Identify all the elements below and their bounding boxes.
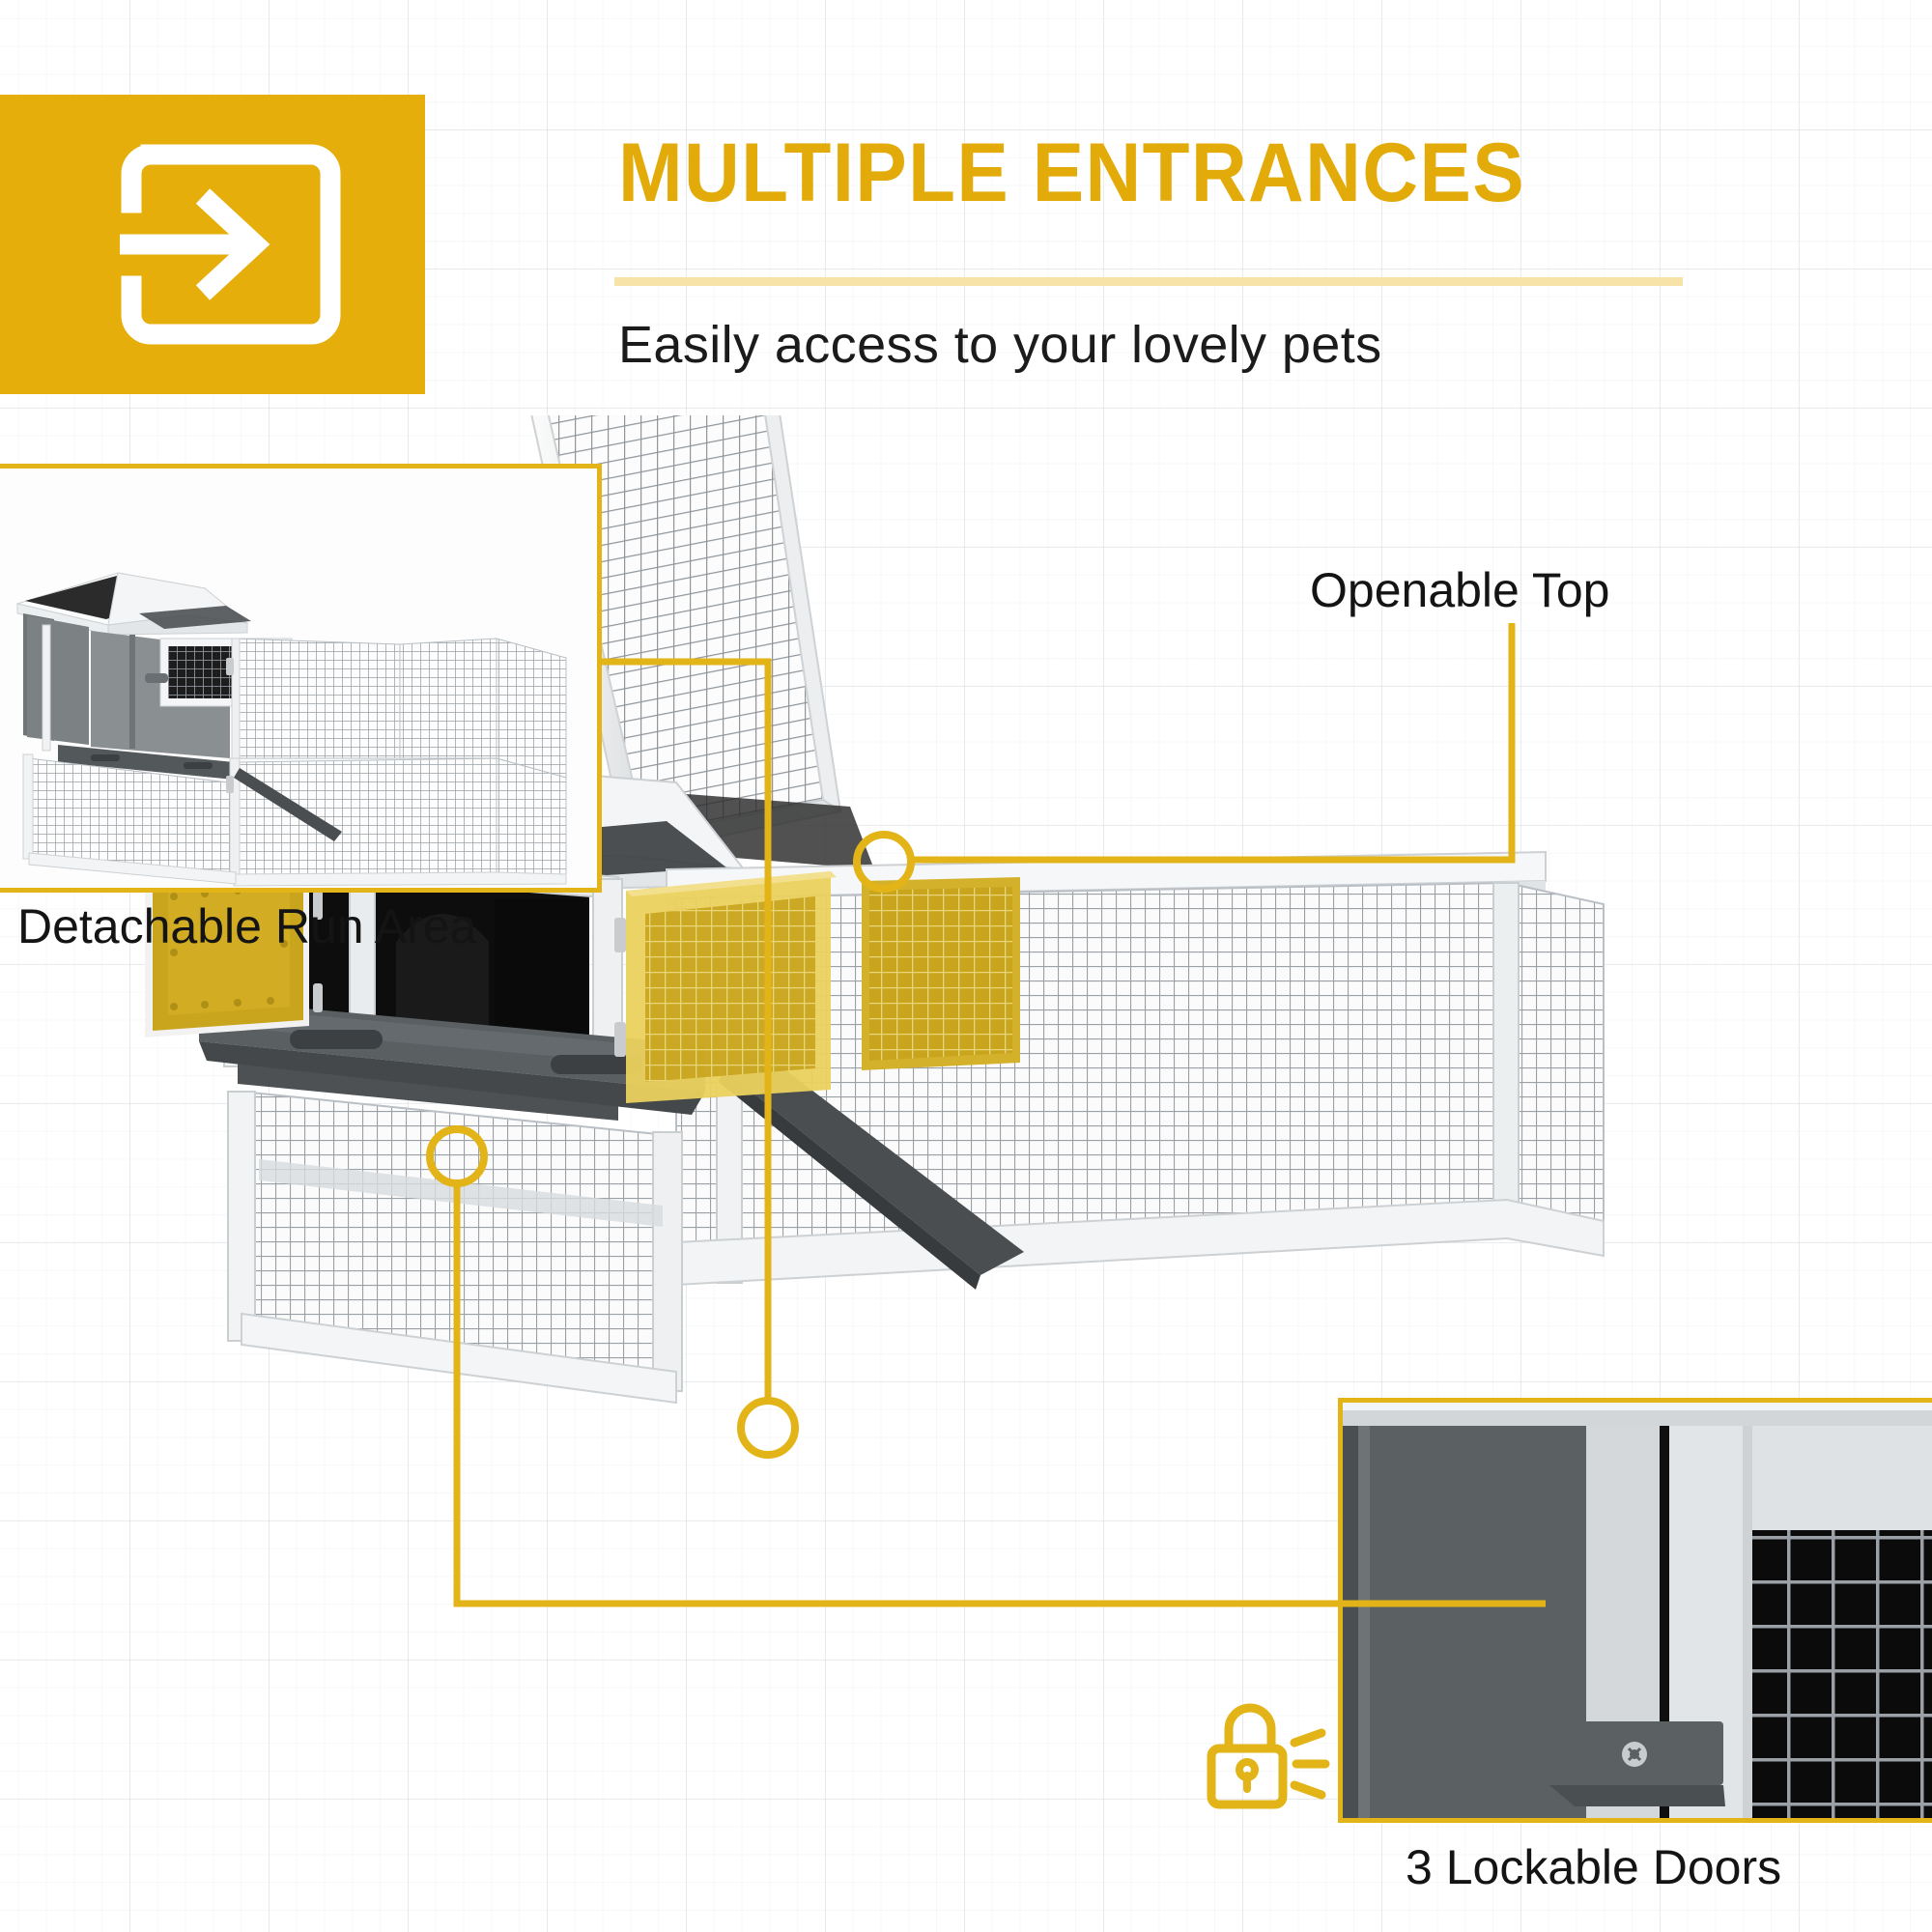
inset-lock-image [1343,1403,1932,1823]
inset-lockable-doors [1338,1398,1932,1823]
multiple-entrances-icon-box [0,95,425,394]
enter-arrow-icon [81,141,344,348]
page-subtitle: Easily access to your lovely pets [618,315,1382,375]
inset-detachable-run [0,464,602,893]
door-right-mesh [862,877,1020,1070]
open-padlock-icon [1202,1692,1337,1823]
page-title: MULTIPLE ENTRANCES [618,126,1525,221]
door-center-mesh [626,871,837,1103]
lower-run [228,1092,682,1403]
inset-run-caption: Detachable Run Area [17,898,476,954]
inset-run-image [0,469,602,893]
inset-lock-caption: 3 Lockable Doors [1406,1839,1781,1895]
callout-label-openable-top: Openable Top [1310,562,1609,618]
title-divider [614,277,1683,286]
